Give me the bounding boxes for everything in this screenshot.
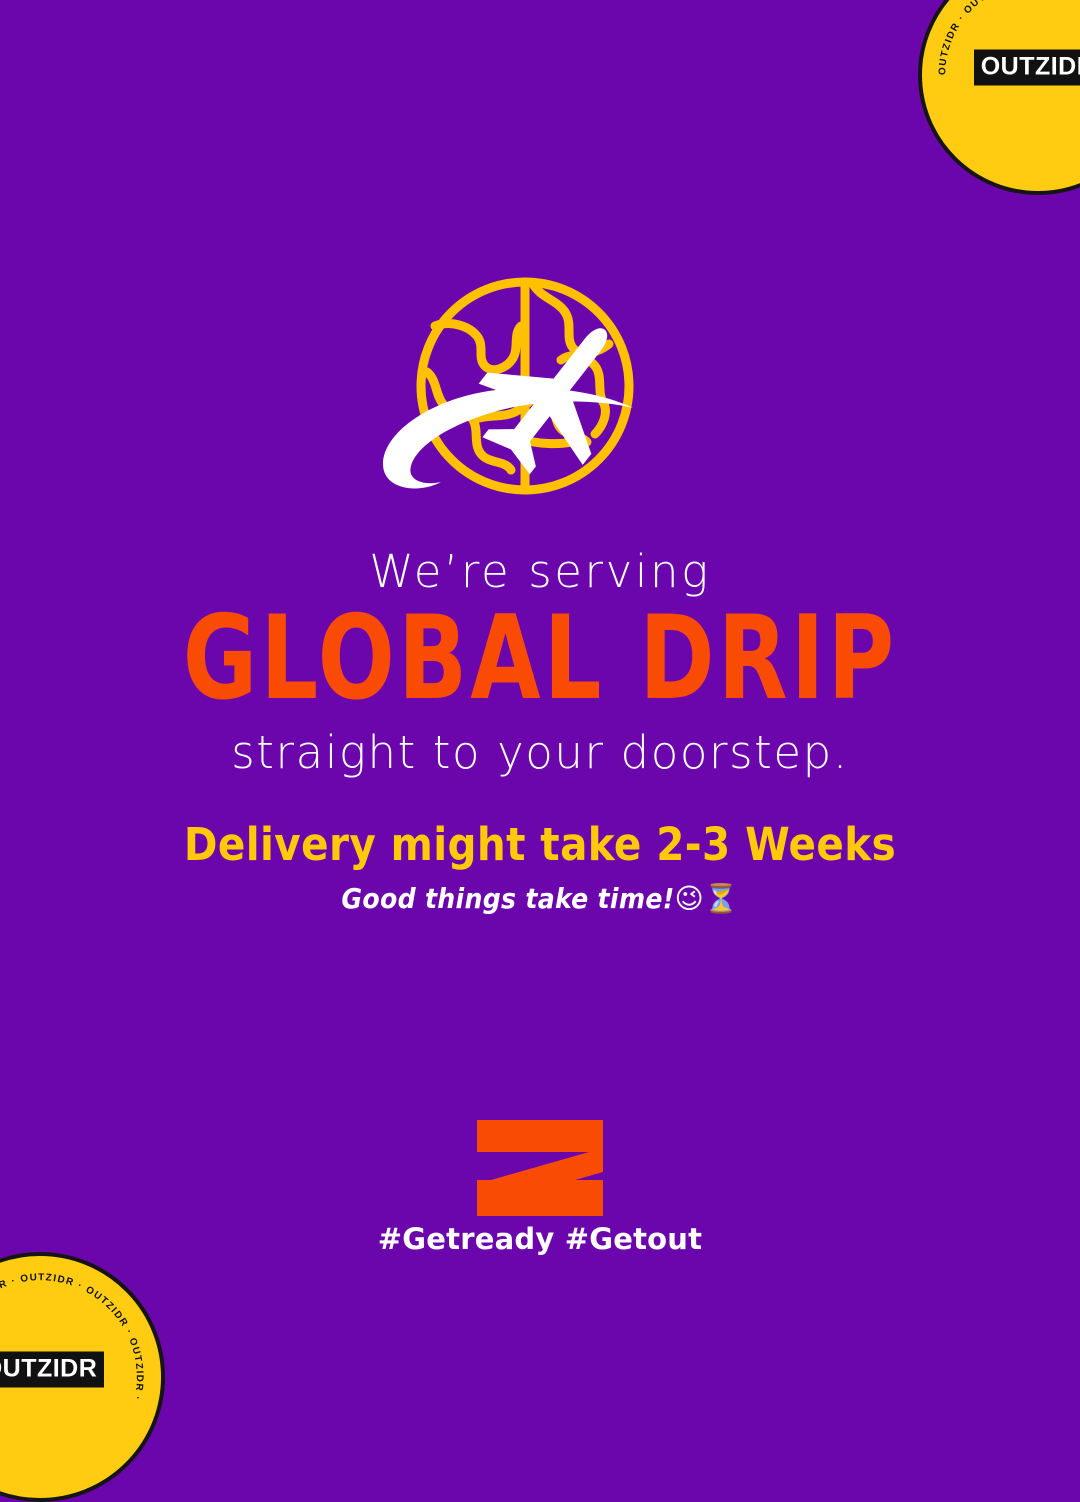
- z-logo-icon: [477, 1120, 603, 1216]
- seal-wordmark: OUTZIDR: [0, 1352, 104, 1388]
- poster-canvas: OUTZIDR · OUTZIDR · OUTZIDR · OUTZIDR · …: [0, 0, 1080, 1440]
- delivery-reassurance-text: Good things take time!: [341, 882, 674, 915]
- delivery-reassurance: Good things take time!😉⏳: [0, 882, 1080, 916]
- footer-brand: #Getready #Getout: [0, 1120, 1080, 1256]
- hero-illustration: [0, 268, 1080, 518]
- kicker-line: We’re serving: [0, 548, 1080, 595]
- seal-wordmark: OUTZIDR: [974, 50, 1080, 86]
- seal-core-top-right: OUTZIDR: [972, 65, 1080, 86]
- seal-core-bottom-left: OUTZIDR: [0, 1367, 106, 1388]
- brand-seal-bottom-left: OUTZIDR · OUTZIDR · OUTZIDR · OUTZIDR · …: [0, 1252, 165, 1502]
- subline: straight to your doorstep.: [0, 729, 1080, 776]
- wink-hourglass-emoji: 😉⏳: [675, 882, 739, 915]
- seal-ring-top-right: OUTZIDR · OUTZIDR · OUTZIDR · OUTZIDR · …: [922, 0, 1080, 191]
- delivery-notice: Delivery might take 2-3 Weeks Good thing…: [0, 820, 1080, 915]
- globe-with-airplane-icon: [365, 268, 715, 518]
- hero-copy: We’re serving GLOBAL DRIP straight to yo…: [0, 548, 1080, 777]
- delivery-estimate: Delivery might take 2-3 Weeks: [0, 820, 1080, 870]
- hashtags: #Getready #Getout: [378, 1222, 702, 1256]
- brand-seal-top-right: OUTZIDR · OUTZIDR · OUTZIDR · OUTZIDR · …: [918, 0, 1080, 195]
- page-title: GLOBAL DRIP: [0, 601, 1080, 717]
